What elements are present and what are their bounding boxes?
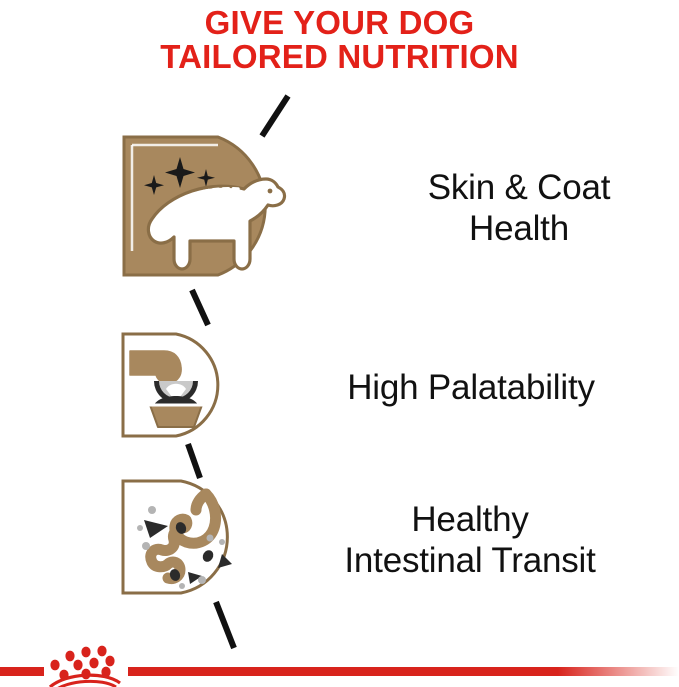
royal-canin-crown-logo — [50, 646, 120, 687]
dog-skin-coat-icon — [118, 131, 298, 286]
headline-line-2: TAILORED NUTRITION — [0, 40, 679, 74]
benefit-label-line-1: Healthy — [262, 499, 678, 540]
benefit-label-line-1: High Palatability — [264, 367, 678, 408]
headline-line-1: GIVE YOUR DOG — [0, 6, 679, 40]
benefit-label-line-2: Health — [360, 208, 678, 249]
hand-pouring-food-bowl-icon — [118, 329, 234, 446]
benefit-label-intestinal-transit: Healthy Intestinal Transit — [262, 499, 678, 581]
brand-footer-bar — [0, 625, 679, 687]
benefit-row-skin-coat: Skin & Coat Health — [118, 128, 678, 288]
benefit-label-line-1: Skin & Coat — [360, 167, 678, 208]
footer-bar-left — [0, 667, 44, 676]
footer-bar-right — [128, 667, 679, 676]
benefit-row-high-palatability: High Palatability — [118, 330, 678, 445]
benefit-label-high-palatability: High Palatability — [264, 367, 678, 408]
benefit-label-skin-coat: Skin & Coat Health — [360, 167, 678, 249]
benefit-label-line-2: Intestinal Transit — [262, 540, 678, 581]
page-title: GIVE YOUR DOG TAILORED NUTRITION — [0, 6, 679, 74]
benefit-row-intestinal-transit: Healthy Intestinal Transit — [118, 477, 678, 602]
stomach-intestine-icon — [118, 476, 244, 603]
